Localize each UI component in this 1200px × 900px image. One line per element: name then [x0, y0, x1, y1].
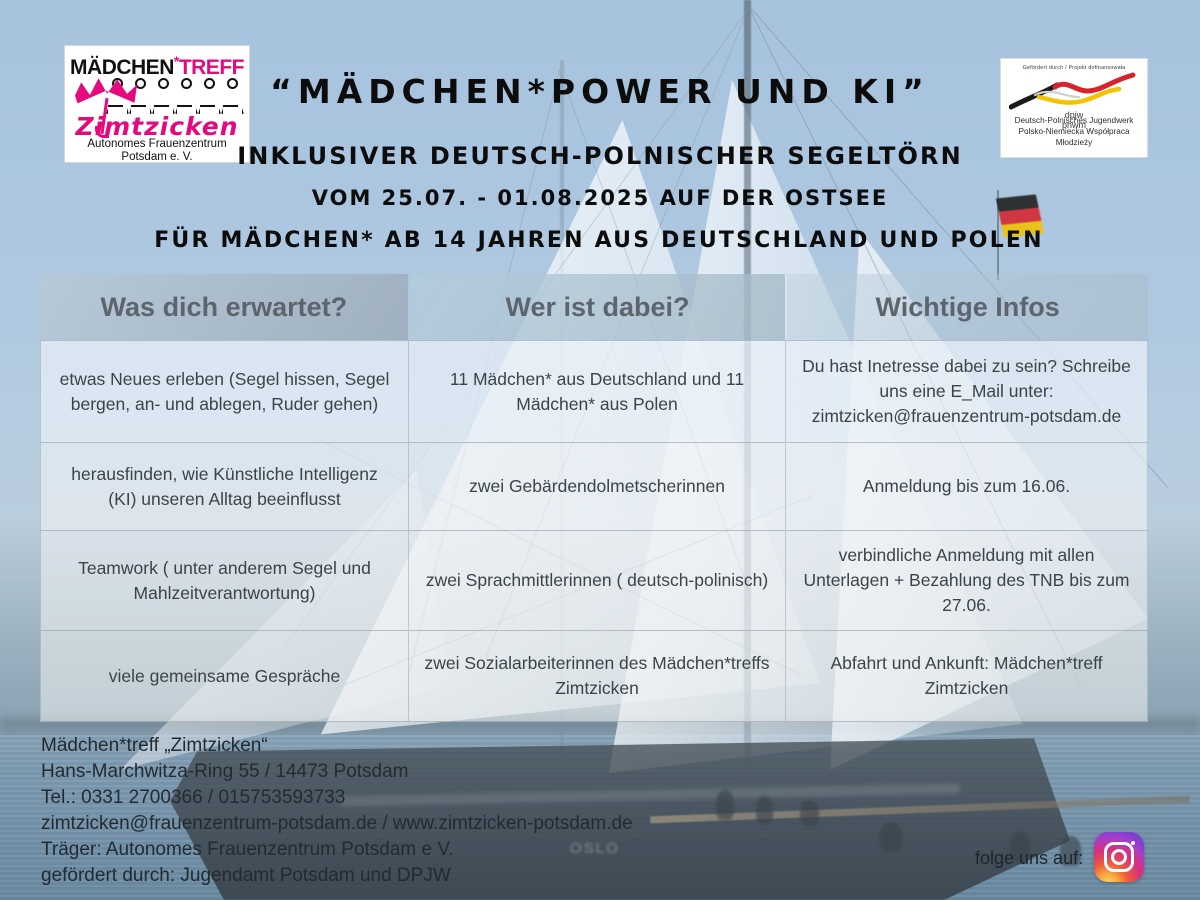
- table-row: etwas Neues erleben (Segel hissen, Segel…: [40, 340, 1148, 442]
- table-cell: zwei Gebärdendolmetscherinnen: [409, 442, 786, 530]
- headline-block: “MÄDCHEN*POWER UND KI” INKLUSIVER DEUTSC…: [150, 72, 1050, 253]
- table-row: Teamwork ( unter anderem Segel und Mahlz…: [40, 530, 1148, 630]
- headline-subtitle-3: FÜR MÄDCHEN* AB 14 JAHREN AUS DEUTSCHLAN…: [148, 228, 1050, 253]
- table-row: herausfinden, wie Künstliche Intelligenz…: [40, 442, 1148, 530]
- footer-phone: Tel.: 0331 2700366 / 015753593733: [41, 785, 633, 811]
- crew-figure: [716, 790, 734, 820]
- table-header-wichtige-infos: Wichtige Infos: [787, 274, 1148, 340]
- table-header-row: Was dich erwartet? Wer ist dabei? Wichti…: [40, 267, 1148, 340]
- table-header-wer-ist-dabei: Wer ist dabei?: [410, 274, 786, 340]
- table-cell: Abfahrt und Ankunft: Mädchen*treff Zimtz…: [786, 630, 1148, 722]
- table-cell: verbindliche Anmeldung mit allen Unterla…: [786, 530, 1148, 630]
- table-header-was-dich-erwartet: Was dich erwartet?: [40, 274, 408, 340]
- footer-funding: gefördert durch: Jugendamt Potsdam und D…: [41, 863, 633, 889]
- instagram-icon[interactable]: [1094, 832, 1144, 882]
- headline-subtitle-1: INKLUSIVER DEUTSCH-POLNISCHER SEGELTÖRN: [150, 142, 1050, 170]
- table-cell: viele gemeinsame Gespräche: [40, 630, 409, 722]
- table-cell: Du hast Inetresse dabei zu sein? Schreib…: [786, 340, 1148, 442]
- footer-email-web[interactable]: zimtzicken@frauenzentrum-potsdam.de / ww…: [41, 811, 633, 837]
- table-cell: zwei Sozialarbeiterinnen des Mädchen*tre…: [409, 630, 786, 722]
- footer-address: Hans-Marchwitza-Ring 55 / 14473 Potsdam: [41, 759, 633, 785]
- footer-contact-block: Mädchen*treff „Zimtzicken“ Hans-Marchwit…: [41, 733, 633, 889]
- headline-subtitle-2: VOM 25.07. - 01.08.2025 AUF DER OSTSEE: [150, 186, 1050, 210]
- poster-canvas: OSLO MÄDCHEN*TREFF Zimtzicken Autonomes …: [0, 0, 1200, 900]
- crew-figure: [800, 800, 819, 826]
- crew-figure: [880, 822, 902, 852]
- table-cell: etwas Neues erleben (Segel hissen, Segel…: [40, 340, 409, 442]
- table-cell: herausfinden, wie Künstliche Intelligenz…: [40, 442, 409, 530]
- page-title: “MÄDCHEN*POWER UND KI”: [150, 72, 1050, 111]
- table-cell: zwei Sprachmittlerinnen ( deutsch-polini…: [409, 530, 786, 630]
- info-table: Was dich erwartet? Wer ist dabei? Wichti…: [40, 267, 1148, 722]
- follow-us-label: folge uns auf:: [975, 848, 1083, 869]
- table-row: viele gemeinsame Gespräche zwei Sozialar…: [40, 630, 1148, 722]
- table-cell: 11 Mädchen* aus Deutschland und 11 Mädch…: [409, 340, 786, 442]
- footer-provider: Träger: Autonomes Frauenzentrum Potsdam …: [41, 837, 633, 863]
- table-cell: Teamwork ( unter anderem Segel und Mahlz…: [40, 530, 409, 630]
- table-cell: Anmeldung bis zum 16.06.: [786, 442, 1148, 530]
- crew-figure: [756, 796, 773, 824]
- footer-org-name: Mädchen*treff „Zimtzicken“: [41, 733, 633, 759]
